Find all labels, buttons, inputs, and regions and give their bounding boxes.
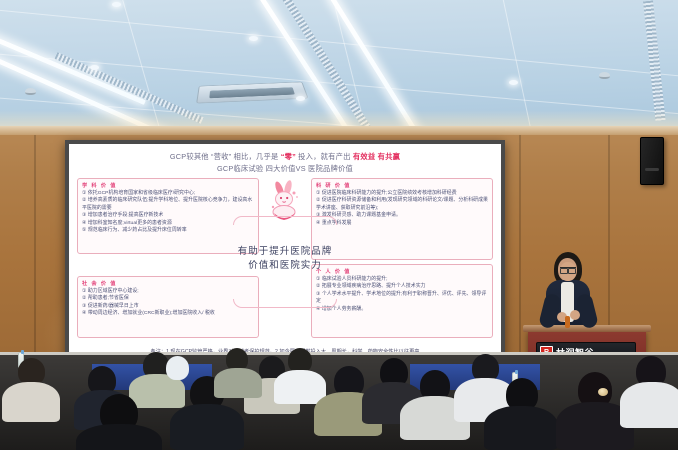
slide-title-highlight-b: 有效益 有共赢 xyxy=(353,152,400,161)
slide-title-line1: GCP较其他 “营收” 相比，几乎是 “零” 投入，就有产出 有效益 有共赢 xyxy=(79,152,491,163)
downlight xyxy=(296,96,305,101)
audience-shoulders xyxy=(2,382,60,422)
value-quadrant: 学 科 价 值 ① 依托GCP机构培育国家和省级临床医疗/研究中心; ② 培养高… xyxy=(77,178,493,338)
list-item: ③ 个人学术水平提升、学术地位的提升;有利于职称晋升、评优、评先、领导评定 xyxy=(316,291,488,306)
audience-shoulders xyxy=(620,382,678,428)
value-box-social-heading: 社 会 价 值 xyxy=(82,280,254,287)
value-box-discipline: 学 科 价 值 ① 依托GCP机构培育国家和省级临床医疗/研究中心; ② 培养高… xyxy=(77,178,259,254)
audience-shoulders xyxy=(214,368,262,398)
presenter-right-hand xyxy=(570,310,580,320)
microphone-icon xyxy=(565,316,570,328)
list-item: ② 促进医疗科研资源储备和利用(发现研究领域的科研论文/课题、分析科研成果学术讲… xyxy=(316,197,488,212)
list-item: ① 临床试验人员科研能力的提升; xyxy=(316,276,488,283)
slide-title-part-b: 投入，就有产出 xyxy=(296,152,353,161)
value-box-social: 社 会 价 值 ① 助力区域医疗中心建设; ② 帮助患者;节省医保 ③ 促进新药… xyxy=(77,276,259,338)
list-item: ③ 增加患者治疗手段;提高医疗新技术 xyxy=(82,212,254,219)
audience-head xyxy=(18,358,45,385)
value-box-social-list: ① 助力区域医疗中心建设; ② 帮助患者;节省医保 ③ 促进新药/器械早日上市 … xyxy=(82,288,254,318)
projection-screen: GCP较其他 “营收” 相比，几乎是 “零” 投入，就有产出 有效益 有共赢 G… xyxy=(69,144,501,358)
audience-shoulders xyxy=(170,404,244,450)
wall-cornice xyxy=(0,126,678,135)
presentation-slide: GCP较其他 “营收” 相比，几乎是 “零” 投入，就有产出 有效益 有共赢 G… xyxy=(69,144,501,358)
audience-shoulders xyxy=(484,406,558,450)
list-item: ① 依托GCP机构培育国家和省级临床医疗/研究中心; xyxy=(82,190,254,197)
list-item: ④ 带动周边经济、增加就业(CRC新职业);增加医院收入/ 税收 xyxy=(82,310,254,317)
list-item: ② 帮助患者;节省医保 xyxy=(82,295,254,302)
slide-subtitle: GCP临床试验 四大价值VS 医院品牌价值 xyxy=(79,164,491,174)
value-box-research-heading: 科 研 价 值 xyxy=(316,182,488,189)
value-box-discipline-heading: 学 科 价 值 xyxy=(82,182,254,189)
slide-title-highlight-a: “零” xyxy=(281,152,296,161)
audience-shoulders xyxy=(274,370,326,404)
projection-screen-frame: GCP较其他 “营收” 相比，几乎是 “零” 投入，就有产出 有效益 有共赢 G… xyxy=(65,140,505,362)
smoke-detector xyxy=(25,88,36,95)
value-box-research-list: ① 促进医院临床科研能力的提升;公立医院绩效考核增加科研经费 ② 促进医疗科研资… xyxy=(316,190,488,227)
downlight xyxy=(112,2,121,7)
list-item: ① 促进医院临床科研能力的提升;公立医院绩效考核增加科研经费 xyxy=(316,190,488,197)
list-item: ② 拓展专业领域疾病治疗思路、提升个人技术实力 xyxy=(316,283,488,290)
screenshot-scene: GCP较其他 “营收” 相比，几乎是 “零” 投入，就有产出 有效益 有共赢 G… xyxy=(0,0,678,450)
list-item: ④ 增加科室知名度;virtual更多的患者资源 xyxy=(82,220,254,227)
list-item: ② 培养高素质的临床研究队伍;提升学科地位、提升医院核心竞争力，建设高水平医院的… xyxy=(82,197,254,212)
downlight xyxy=(90,65,99,70)
ceiling xyxy=(0,0,678,132)
smoke-detector xyxy=(599,72,610,79)
center-conclusion-node: 有助于提升医院品牌价值和医院实力 xyxy=(237,245,333,274)
audience-shoulders xyxy=(76,424,162,450)
list-item: ③ 促进新药/器械早日上市 xyxy=(82,303,254,310)
list-item: ④ 增加个人劳务薪酬。 xyxy=(316,306,488,313)
wall-loudspeaker xyxy=(640,137,664,185)
list-item: ⑤ 规范临床行为、减少药占比及提升床位周转率 xyxy=(82,227,254,234)
list-item: ④ 重点学科发展 xyxy=(316,220,488,227)
brace-top-connector xyxy=(233,216,337,225)
list-item: ① 助力区域医疗中心建设; xyxy=(82,288,254,295)
value-box-personal: 个 人 价 值 ① 临床试验人员科研能力的提升; ② 拓展专业领域疾病治疗思路、… xyxy=(311,264,493,338)
value-box-personal-list: ① 临床试验人员科研能力的提升; ② 拓展专业领域疾病治疗思路、提升个人技术实力… xyxy=(316,276,488,313)
ac-cassette-unit xyxy=(196,82,308,104)
list-item: ③ 激发科研灵感、助力课题基金申请。 xyxy=(316,212,488,219)
value-box-discipline-list: ① 依托GCP机构培育国家和省级临床医疗/研究中心; ② 培养高素质的临床研究队… xyxy=(82,190,254,235)
downlight xyxy=(509,80,518,85)
glasses-icon xyxy=(560,267,576,271)
value-box-research: 科 研 价 值 ① 促进医院临床科研能力的提升;公立医院绩效考核增加科研经费 ②… xyxy=(311,178,493,260)
ceiling-air-vent-right xyxy=(643,0,665,120)
hair-ornament xyxy=(598,388,608,396)
downlight xyxy=(249,36,258,41)
audience-head xyxy=(166,356,189,380)
slide-title-part-a: GCP较其他 “营收” 相比，几乎是 xyxy=(170,152,281,161)
value-box-personal-heading: 个 人 价 值 xyxy=(316,268,488,275)
brace-bottom-connector xyxy=(233,299,337,308)
